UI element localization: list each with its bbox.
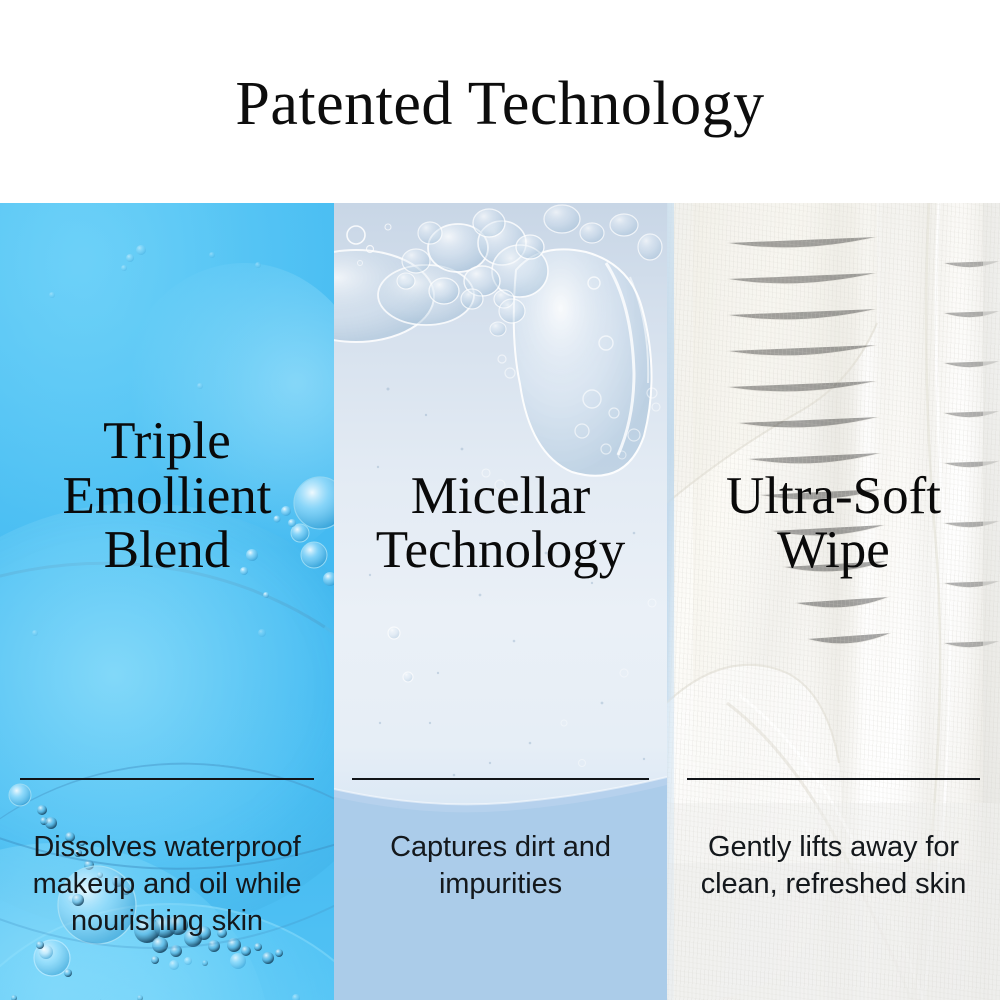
panel-ultra-soft-wipe: Ultra-Soft Wipe Gently lifts away for cl… xyxy=(667,203,1000,1000)
panel-heading-triple-emollient-blend: Triple Emollient Blend xyxy=(14,414,320,578)
patented-technology-infographic: Patented Technology xyxy=(0,0,1000,1000)
panel2-content: Micellar Technology Captures dirt and im… xyxy=(334,203,667,1000)
panel-heading-ultra-soft-wipe: Ultra-Soft Wipe xyxy=(681,469,986,578)
panel-caption-micellar-technology: Captures dirt and impurities xyxy=(344,829,657,903)
panel-heading-micellar-technology: Micellar Technology xyxy=(348,469,653,578)
panel1-divider xyxy=(20,778,314,780)
panel3-divider xyxy=(687,778,980,780)
panel3-content: Ultra-Soft Wipe Gently lifts away for cl… xyxy=(667,203,1000,1000)
panel-triple-emollient-blend: Triple Emollient Blend Dissolves waterpr… xyxy=(0,203,334,1000)
page-title: Patented Technology xyxy=(235,73,764,135)
panel-micellar-technology: Micellar Technology Captures dirt and im… xyxy=(334,203,667,1000)
feature-panels: Triple Emollient Blend Dissolves waterpr… xyxy=(0,203,1000,1000)
panel-caption-ultra-soft-wipe: Gently lifts away for clean, refreshed s… xyxy=(677,829,990,903)
panel2-divider xyxy=(352,778,649,780)
panel1-content: Triple Emollient Blend Dissolves waterpr… xyxy=(0,203,334,1000)
header: Patented Technology xyxy=(0,0,1000,203)
panel-caption-triple-emollient-blend: Dissolves waterproof makeup and oil whil… xyxy=(10,829,324,940)
